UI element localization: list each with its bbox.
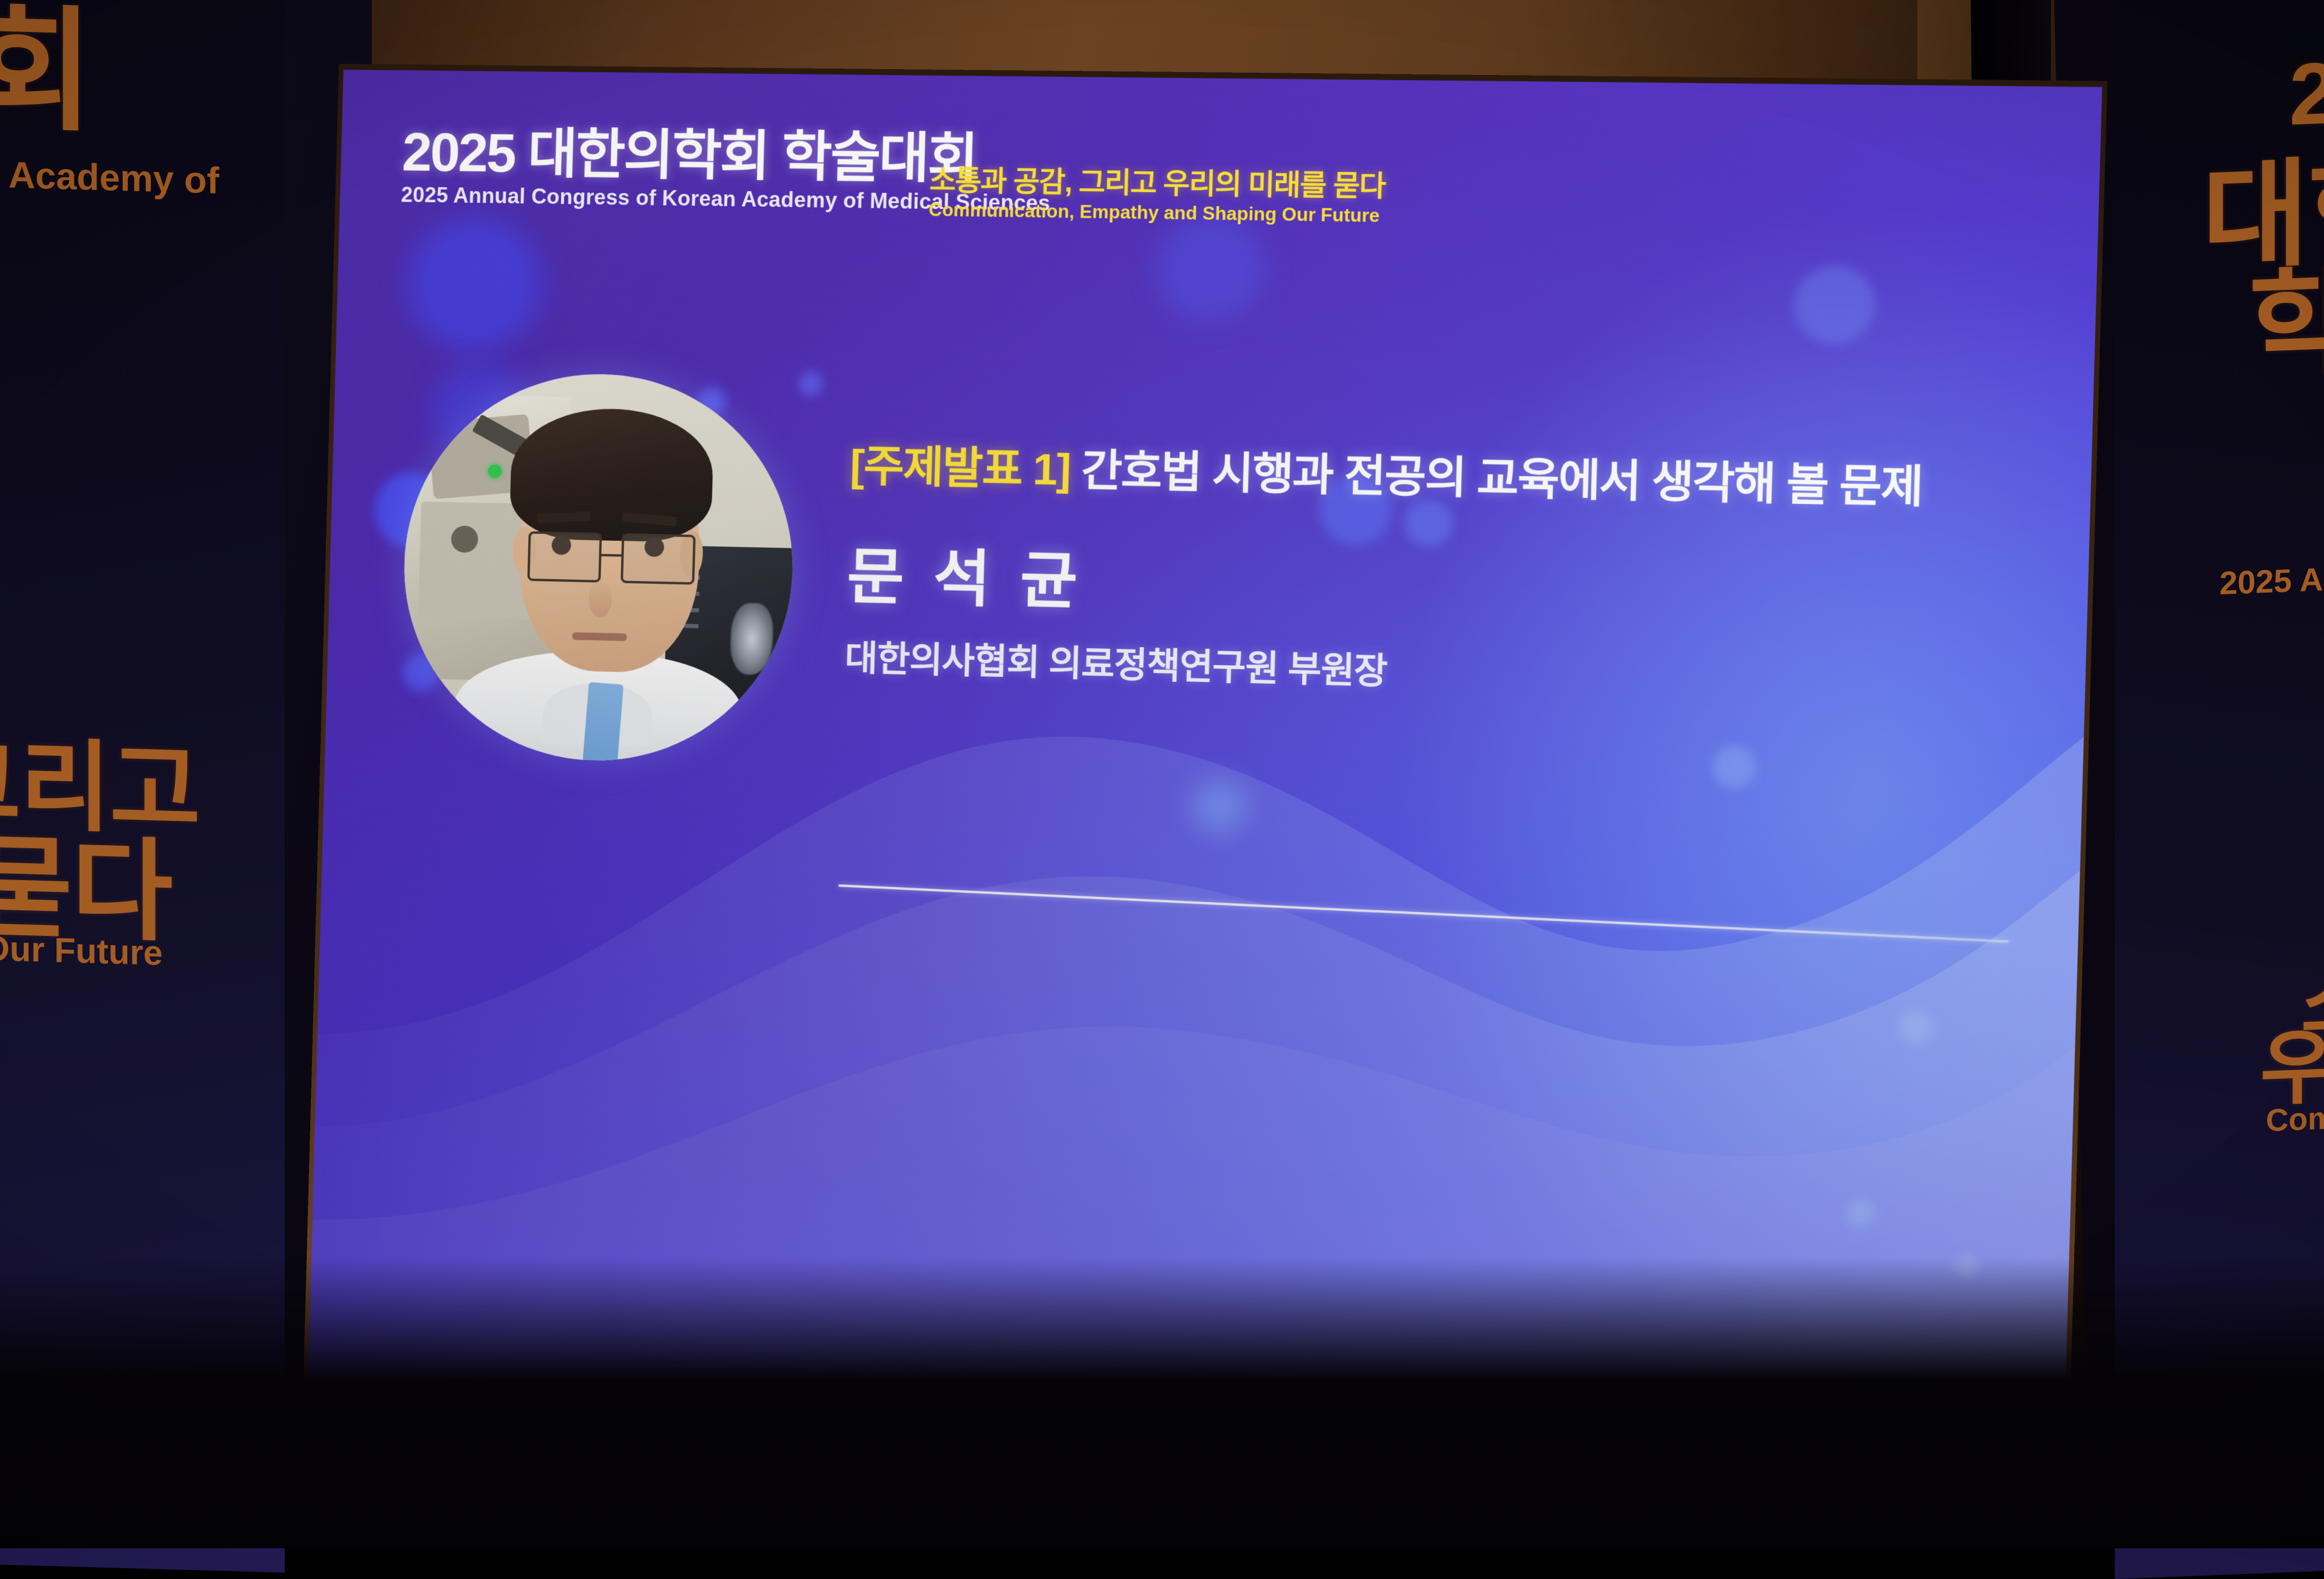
- stage-shadow: [0, 1258, 2324, 1548]
- congress-slogan-ko: 소통과 공감, 그리고 우리의 미래를 묻다: [929, 167, 1386, 201]
- session-info: [주제발표 1] 간호법 시행과 전공의 교육에서 생각해 볼 문제 문 석 균…: [844, 440, 2054, 711]
- banner-left-line-5: Our Future: [0, 928, 163, 973]
- speaker-name: 문 석 균: [846, 526, 2051, 644]
- slide-slogan: 소통과 공감, 그리고 우리의 미래를 묻다 Communication, Em…: [928, 167, 1386, 227]
- banner-left-line-1: 회: [0, 0, 93, 157]
- glasses-bridge: [601, 554, 622, 557]
- eyeglasses: [528, 531, 696, 585]
- banner-right-line-7: Commu: [2266, 1098, 2324, 1139]
- mouth: [572, 632, 627, 641]
- banner-right-line-3: 학: [2248, 228, 2324, 400]
- session-tag: [주제발표 1]: [849, 441, 1071, 494]
- banner-left-line-2: n Academy of: [0, 152, 219, 202]
- necktie: [582, 682, 624, 766]
- lens-left: [528, 531, 602, 583]
- banner-right-line-4: 2025 Annua: [2219, 557, 2324, 602]
- speaker-portrait: [399, 371, 798, 766]
- lens-right: [621, 533, 695, 585]
